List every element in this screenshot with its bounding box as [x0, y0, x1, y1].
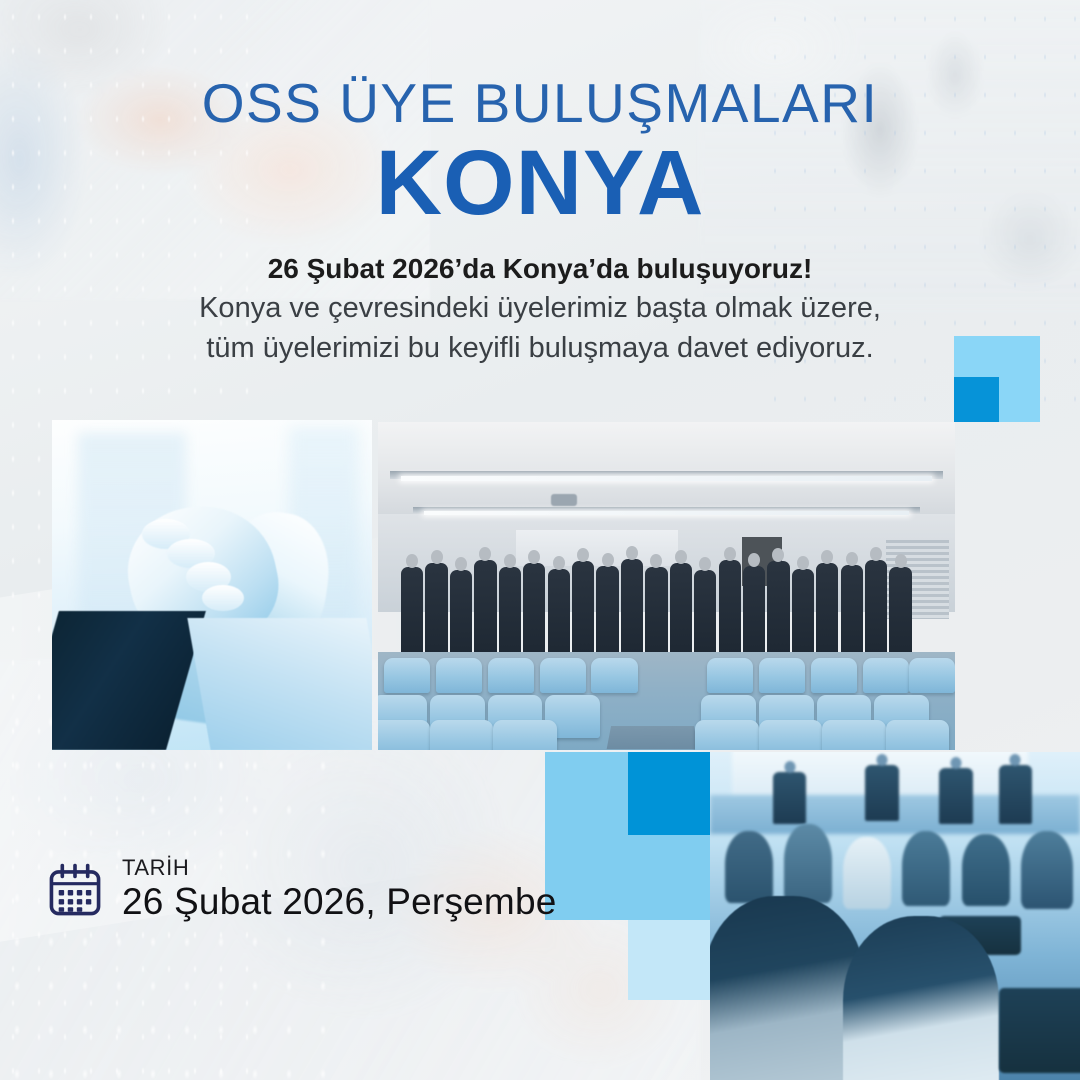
subtitle-line-1: Konya ve çevresindeki üyelerimiz başta o… — [0, 288, 1080, 328]
audience-photo-front-person-right — [843, 916, 998, 1080]
audience-photo-front-person-left — [710, 896, 865, 1080]
poster-city-title: KONYA — [0, 135, 1080, 233]
poster-eyebrow-title: OSS ÜYE BULUŞMALARI — [0, 76, 1080, 131]
square-bottom-pale — [628, 920, 710, 1000]
subtitle-line-2: tüm üyelerimizi bu keyifli buluşmaya dav… — [0, 328, 1080, 368]
group-photo-light-strip-1 — [401, 476, 932, 481]
date-text-group: TARİH 26 Şubat 2026, Perşembe — [122, 856, 557, 924]
audience-photo — [710, 752, 1080, 1080]
hands-photo-light-sleeve — [188, 618, 372, 750]
poster-header: OSS ÜYE BULUŞMALARI KONYA — [0, 76, 1080, 233]
group-photo-light-strip-2 — [424, 511, 909, 515]
clasped-hands-photo — [52, 420, 372, 750]
date-value: 26 Şubat 2026, Perşembe — [122, 880, 557, 924]
group-photo-floor — [378, 652, 955, 750]
calendar-icon — [46, 861, 104, 919]
event-poster: OSS ÜYE BULUŞMALARI KONYA 26 Şubat 2026’… — [0, 0, 1080, 1080]
group-photo — [378, 422, 955, 750]
group-photo-projector — [551, 494, 577, 506]
subtitle-headline: 26 Şubat 2026’da Konya’da buluşuyoruz! — [0, 250, 1080, 288]
date-block: TARİH 26 Şubat 2026, Perşembe — [46, 856, 557, 924]
group-photo-aisle — [607, 726, 698, 749]
square-top-right-dark — [954, 377, 999, 422]
date-label: TARİH — [122, 856, 557, 880]
square-bottom-dark — [628, 752, 710, 835]
poster-subtitle-block: 26 Şubat 2026’da Konya’da buluşuyoruz! K… — [0, 250, 1080, 368]
